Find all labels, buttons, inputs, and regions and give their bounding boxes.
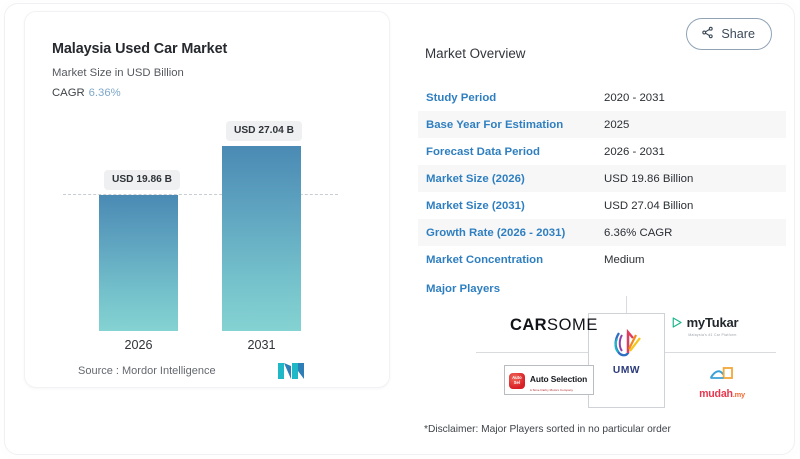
table-row: Base Year For Estimation 2025	[418, 111, 786, 138]
row-key: Base Year For Estimation	[426, 119, 604, 131]
major-players-label: Major Players	[426, 283, 500, 295]
bar-2026	[99, 195, 178, 331]
table-row: Market Concentration Medium	[418, 246, 786, 273]
table-row: Growth Rate (2026 - 2031) 6.36% CAGR	[418, 219, 786, 246]
chart-source: Source : Mordor Intelligence	[78, 365, 216, 377]
row-key: Market Size (2026)	[426, 173, 604, 185]
market-overview-title: Market Overview	[425, 46, 525, 61]
x-axis-tick-2031: 2031	[222, 338, 301, 352]
row-key: Forecast Data Period	[426, 146, 604, 158]
row-value: 2026 - 2031	[604, 146, 665, 158]
major-players-logo-grid: CARSOME myTukar Malaysia's #1 Car Platfo…	[476, 296, 776, 408]
umw-wing-icon	[610, 346, 644, 363]
auto-selection-label: Auto Selection	[530, 374, 587, 384]
market-overview-panel: Market Overview Study Period 2020 - 2031…	[418, 0, 788, 459]
row-value: 2025	[604, 119, 629, 131]
auto-selection-mark-icon: AutoSel	[509, 373, 525, 389]
row-value: 2020 - 2031	[604, 92, 665, 104]
row-key: Market Concentration	[426, 254, 604, 266]
row-value: USD 19.86 Billion	[604, 173, 693, 185]
umw-label: UMW	[588, 365, 665, 376]
table-row: Forecast Data Period 2026 - 2031	[418, 138, 786, 165]
auto-selection-tagline: A Sime Darby Motors Company	[530, 388, 587, 392]
player-logo-mudah-my: mudah.my	[672, 358, 772, 404]
players-disclaimer: *Disclaimer: Major Players sorted in no …	[424, 424, 671, 435]
mytukar-label: myTukar	[687, 315, 739, 330]
bar-value-label-2031: USD 27.04 B	[226, 121, 302, 141]
bar-chart-plot: USD 19.86 B USD 27.04 B 2026 2031	[0, 0, 366, 377]
row-key: Market Size (2031)	[426, 200, 604, 212]
page-root: Share Malaysia Used Car Market Market Si…	[0, 0, 800, 459]
mudah-house-icon	[709, 370, 735, 387]
table-row: Market Size (2031) USD 27.04 Billion	[418, 192, 786, 219]
mytukar-play-icon	[670, 316, 683, 334]
mudah-label: mudah	[699, 388, 733, 400]
bar-value-label-2026: USD 19.86 B	[104, 170, 180, 190]
mordor-intelligence-logo	[278, 362, 304, 379]
mytukar-tagline: Malaysia's #1 Car Platform	[687, 333, 739, 337]
player-logo-umw: UMW	[588, 329, 665, 376]
mudah-suffix: .my	[733, 390, 745, 399]
bar-2031	[222, 146, 301, 331]
market-overview-table: Study Period 2020 - 2031 Base Year For E…	[418, 84, 786, 304]
row-value: 6.36% CAGR	[604, 227, 672, 239]
x-axis-tick-2026: 2026	[99, 338, 178, 352]
row-key: Growth Rate (2026 - 2031)	[426, 227, 604, 239]
table-row: Study Period 2020 - 2031	[418, 84, 786, 111]
carsome-bold: CAR	[510, 316, 547, 334]
row-value: USD 27.04 Billion	[604, 200, 693, 212]
row-value: Medium	[604, 254, 645, 266]
row-key: Study Period	[426, 92, 604, 104]
table-row: Market Size (2026) USD 19.86 Billion	[418, 165, 786, 192]
